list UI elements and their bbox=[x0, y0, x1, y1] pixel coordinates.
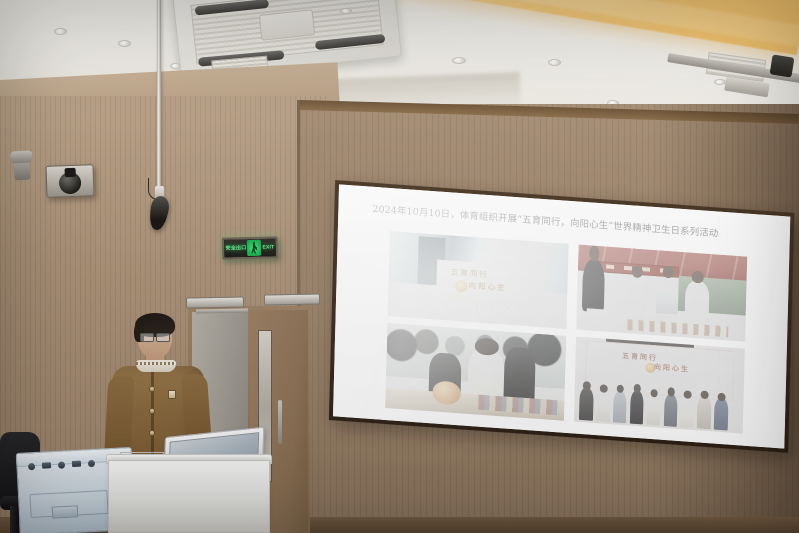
screen-surface: 2024年10月10日，体育组织开展“五育同行，向阳心生”世界精神卫生日系列活动… bbox=[333, 184, 790, 448]
projection-screen: 2024年10月10日，体育组织开展“五育同行，向阳心生”世界精神卫生日系列活动… bbox=[329, 180, 795, 453]
lecture-room-photo: 安全出口 EXIT 2024年10月10日，体育组织开展“五育同行，向阳心生”世… bbox=[0, 0, 799, 533]
console-knob[interactable] bbox=[58, 461, 65, 468]
door-handle[interactable] bbox=[278, 400, 282, 444]
downlight-icon bbox=[54, 28, 67, 35]
event-banner-board: 五育同行 向阳心生 bbox=[436, 259, 530, 308]
console-switch[interactable] bbox=[72, 461, 81, 467]
slide-photo-crowd-activity bbox=[385, 323, 566, 421]
banner-footer-strip bbox=[447, 293, 498, 302]
exit-sign-label-cn: 安全出口 bbox=[226, 246, 247, 252]
person-figure bbox=[647, 395, 661, 426]
console-knob[interactable] bbox=[28, 462, 35, 469]
banner-line-1: 五育同行 bbox=[451, 267, 489, 281]
person-figure bbox=[624, 275, 649, 316]
podium: WEN JIANG UNIVERSITY 温 江 大 学 bbox=[108, 460, 270, 533]
console-nameplate bbox=[52, 505, 79, 518]
person-figure bbox=[630, 390, 644, 425]
slide-photo-banner-hall: 五育同行 向阳心生 bbox=[388, 231, 569, 329]
presentation-slide: 2024年10月10日，体育组织开展“五育同行，向阳心生”世界精神卫生日系列活动… bbox=[333, 184, 790, 448]
office-chair-post bbox=[10, 506, 19, 533]
emergency-exit-sign: 安全出口 EXIT bbox=[222, 236, 279, 259]
person-figure bbox=[504, 347, 536, 402]
door-closer bbox=[186, 296, 244, 308]
glasses-icon bbox=[140, 333, 170, 340]
person-figure bbox=[697, 396, 711, 429]
person-figure bbox=[656, 276, 679, 318]
person-figure bbox=[714, 399, 728, 431]
jacket-button bbox=[149, 408, 155, 414]
downlight-icon bbox=[170, 63, 181, 69]
console-knob[interactable] bbox=[88, 459, 95, 466]
downlight-icon bbox=[340, 8, 352, 14]
person-figure bbox=[613, 391, 627, 424]
security-camera-icon bbox=[45, 164, 94, 198]
speaker-mount bbox=[13, 158, 30, 181]
chest-badge bbox=[168, 390, 176, 399]
downlight-icon bbox=[452, 57, 466, 64]
downlight-icon bbox=[118, 40, 131, 47]
backdrop-line-2: 向阳心生 bbox=[654, 363, 690, 376]
slide-photo-grid: 五育同行 向阳心生 bbox=[385, 231, 747, 434]
person-figure bbox=[596, 390, 610, 422]
jacket-button bbox=[149, 430, 155, 436]
camera-lens bbox=[65, 168, 76, 177]
person-figure bbox=[579, 388, 593, 422]
person-head bbox=[663, 266, 674, 279]
downlight-icon bbox=[548, 59, 561, 66]
exit-sign-label-en: EXIT bbox=[262, 245, 274, 250]
person-figure bbox=[685, 280, 710, 320]
slide-photo-stage-group: 五育同行 向阳心生 bbox=[574, 337, 745, 434]
person-figure bbox=[663, 394, 677, 428]
projector bbox=[770, 54, 795, 77]
sun-logo-icon bbox=[455, 280, 467, 293]
person-figure bbox=[582, 259, 605, 313]
door-closer bbox=[264, 294, 320, 306]
slide-photo-outdoor-booth bbox=[576, 245, 747, 342]
person-head bbox=[692, 271, 704, 283]
person-head bbox=[631, 265, 643, 278]
jacket-button bbox=[149, 386, 155, 392]
backdrop-line-1: 五育同行 bbox=[622, 351, 658, 364]
running-person-icon bbox=[247, 240, 261, 256]
banner-line-2: 向阳心生 bbox=[469, 280, 507, 294]
person-figure bbox=[680, 397, 694, 429]
microphone-pole bbox=[157, 0, 161, 194]
console-switch[interactable] bbox=[42, 462, 51, 468]
person-figure-seated bbox=[468, 348, 505, 400]
collar-stripe bbox=[136, 362, 176, 365]
